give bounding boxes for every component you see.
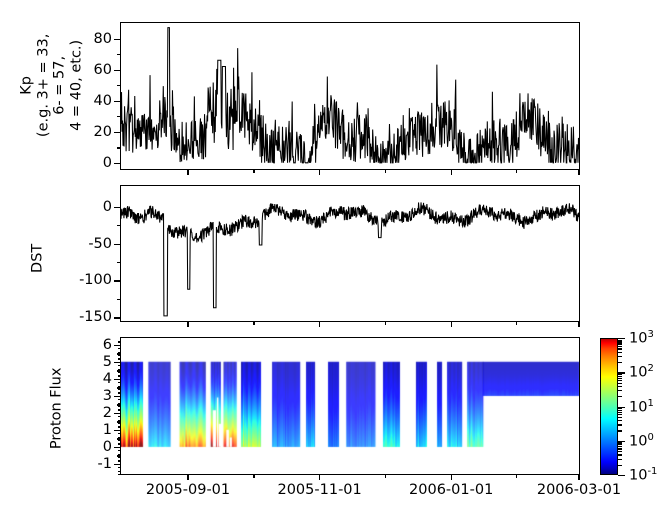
y-tick-label: 1 — [103, 423, 112, 438]
colorbar-tick-major — [618, 475, 625, 476]
y-tick-minor — [118, 365, 121, 366]
kp-axis-title-line4: 4 = 40, etc.) — [69, 25, 86, 145]
dst-trace — [121, 186, 579, 321]
y-tick-major — [114, 396, 121, 397]
colorbar-tick-minor — [618, 352, 622, 353]
colorbar-mantissa: 10 — [629, 468, 647, 484]
colorbar-tick-minor — [618, 424, 622, 425]
colorbar-tick-minor — [618, 412, 622, 413]
y-tick-minor — [118, 372, 121, 373]
y-tick-minor — [118, 406, 121, 407]
kp-trace — [121, 23, 579, 169]
y-tick-minor — [117, 116, 121, 117]
x-tick-major — [319, 474, 320, 480]
x-tick-minor — [253, 169, 254, 173]
x-tick-major — [187, 169, 188, 175]
y-tick-major — [114, 163, 121, 164]
y-tick-minor — [118, 467, 121, 468]
colorbar-tick-label: 100 — [629, 433, 654, 449]
colorbar-tick-minor — [618, 444, 622, 445]
y-tick-minor — [117, 85, 121, 86]
y-tick-label: -50 — [88, 236, 112, 251]
colorbar-tick-minor — [618, 374, 622, 375]
y-tick-label: 40 — [94, 93, 112, 108]
y-tick-minor — [118, 443, 121, 444]
colorbar-tick-label: 101 — [629, 398, 654, 414]
colorbar-exponent: 0 — [647, 432, 653, 443]
y-tick-minor — [118, 437, 121, 438]
y-tick-label: -100 — [79, 273, 112, 288]
y-tick-label: -1 — [98, 457, 112, 472]
kp-axis-title-line2: (e.g. 3+ = 33, — [35, 25, 52, 145]
y-tick-minor — [118, 420, 121, 421]
y-tick-minor — [117, 299, 121, 300]
y-tick-minor — [118, 352, 121, 353]
y-tick-major — [114, 447, 121, 448]
colorbar-mantissa: 10 — [629, 399, 647, 415]
x-tick-major — [319, 321, 320, 327]
x-tick-label: 2006-03-01 — [537, 483, 621, 498]
x-tick-major — [451, 169, 452, 175]
x-tick-major — [319, 169, 320, 175]
y-tick-minor — [118, 416, 121, 417]
colorbar-tick-minor — [618, 378, 622, 379]
y-tick-major — [114, 413, 121, 414]
panel-dst: 0-50-100-150 — [120, 185, 580, 322]
colorbar-tick-minor — [618, 410, 622, 411]
colorbar-tick-minor — [618, 343, 622, 344]
colorbar-tick-label: 102 — [629, 364, 654, 380]
y-tick-minor — [118, 423, 121, 424]
colorbar-tick-minor — [618, 356, 622, 357]
y-tick-major — [114, 70, 121, 71]
y-tick-major — [114, 464, 121, 465]
colorbar-tick-minor — [618, 346, 622, 347]
x-tick-minor — [385, 474, 386, 478]
colorbar-tick-minor — [618, 348, 622, 349]
panel-proton-flux: -10123456 2005-09-012005-11-012006-01-01… — [120, 337, 580, 475]
x-tick-major — [578, 474, 579, 480]
colorbar-tick-minor — [618, 386, 622, 387]
y-tick-label: 4 — [103, 372, 112, 387]
colorbar-tick-minor — [618, 417, 622, 418]
y-tick-label: 3 — [103, 389, 112, 404]
colorbar-tick-minor — [618, 448, 622, 449]
y-tick-major — [114, 39, 121, 40]
colorbar-tick-minor — [618, 446, 622, 447]
y-tick-major — [114, 430, 121, 431]
colorbar-tick-minor — [618, 340, 622, 341]
y-tick-major — [114, 132, 121, 133]
y-tick-minor — [118, 355, 121, 356]
colorbar-tick-minor — [618, 442, 622, 443]
x-tick-label: 2006-01-01 — [409, 483, 493, 498]
y-tick-minor — [118, 433, 121, 434]
y-tick-minor — [118, 375, 121, 376]
y-tick-minor — [118, 392, 121, 393]
colorbar-tick-minor — [618, 465, 622, 466]
flux-axis-title: Proton Flux — [49, 353, 66, 463]
y-tick-minor — [118, 457, 121, 458]
y-tick-minor — [117, 225, 121, 226]
y-tick-minor — [118, 341, 121, 342]
y-tick-minor — [118, 389, 121, 390]
x-tick-major — [187, 474, 188, 480]
y-tick-minor — [118, 450, 121, 451]
colorbar-tick-label: 10-1 — [629, 467, 657, 483]
colorbar-exponent: 3 — [647, 329, 653, 340]
x-tick-major — [578, 169, 579, 175]
y-tick-label: -150 — [79, 310, 112, 325]
x-tick-minor — [253, 474, 254, 478]
y-tick-major — [114, 207, 121, 208]
colorbar-tick-minor — [618, 451, 622, 452]
colorbar-tick-minor — [618, 396, 622, 397]
x-tick-label: 2005-09-01 — [146, 483, 230, 498]
y-tick-major — [114, 280, 121, 281]
y-tick-major — [114, 362, 121, 363]
y-tick-minor — [118, 474, 121, 475]
colorbar-mantissa: 10 — [629, 433, 647, 449]
x-tick-major — [451, 474, 452, 480]
colorbar-tick-minor — [618, 414, 622, 415]
y-tick-minor — [118, 426, 121, 427]
colorbar-tick-minor — [618, 390, 622, 391]
y-tick-label: 2 — [103, 406, 112, 421]
y-tick-minor — [118, 471, 121, 472]
y-tick-minor — [118, 440, 121, 441]
figure-canvas: 020406080 Kp (e.g. 3+ = 33, 6- = 57, 4 =… — [0, 0, 665, 523]
colorbar-tick-label: 103 — [629, 330, 654, 346]
flux-heatmap — [121, 338, 579, 474]
y-tick-major — [114, 244, 121, 245]
x-tick-major — [451, 321, 452, 327]
dst-axis-title: DST — [30, 218, 47, 298]
y-tick-minor — [118, 382, 121, 383]
y-tick-major — [114, 345, 121, 346]
colorbar-tick-minor — [618, 459, 622, 460]
y-tick-major — [114, 379, 121, 380]
x-tick-label: 2005-11-01 — [277, 483, 361, 498]
colorbar: 10310210110010-1 — [600, 338, 618, 475]
colorbar-exponent: 1 — [647, 397, 653, 408]
colorbar-tick-minor — [618, 454, 622, 455]
colorbar-gradient — [600, 338, 618, 475]
y-tick-minor — [118, 409, 121, 410]
x-tick-minor — [385, 321, 386, 325]
x-tick-minor — [253, 321, 254, 325]
x-tick-major — [578, 321, 579, 327]
colorbar-tick-minor — [618, 362, 622, 363]
y-tick-minor — [117, 147, 121, 148]
x-tick-minor — [516, 321, 517, 325]
y-tick-minor — [118, 460, 121, 461]
colorbar-exponent: -1 — [647, 466, 657, 477]
panel-kp: 020406080 — [120, 22, 580, 170]
y-tick-minor — [118, 403, 121, 404]
x-tick-minor — [516, 169, 517, 173]
y-tick-minor — [118, 348, 121, 349]
y-tick-minor — [118, 358, 121, 359]
y-tick-minor — [118, 399, 121, 400]
x-tick-minor — [385, 169, 386, 173]
y-tick-minor — [117, 54, 121, 55]
x-tick-major — [187, 321, 188, 327]
colorbar-mantissa: 10 — [629, 331, 647, 347]
x-tick-minor — [516, 474, 517, 478]
y-tick-major — [114, 317, 121, 318]
y-tick-label: 80 — [94, 31, 112, 46]
colorbar-exponent: 2 — [647, 363, 653, 374]
colorbar-tick-minor — [618, 408, 622, 409]
y-tick-label: 0 — [103, 156, 112, 171]
colorbar-tick-minor — [618, 383, 622, 384]
colorbar-tick-minor — [618, 430, 622, 431]
kp-axis-title-line1: Kp — [19, 25, 36, 145]
y-tick-label: 5 — [103, 355, 112, 370]
colorbar-tick-minor — [618, 341, 622, 342]
y-tick-minor — [118, 386, 121, 387]
colorbar-mantissa: 10 — [629, 365, 647, 381]
colorbar-tick-minor — [618, 420, 622, 421]
y-tick-label: 6 — [103, 338, 112, 353]
dst-plot-area — [121, 186, 579, 321]
y-tick-minor — [118, 369, 121, 370]
colorbar-tick-minor — [618, 380, 622, 381]
y-tick-label: 0 — [103, 440, 112, 455]
y-tick-minor — [117, 262, 121, 263]
y-tick-label: 60 — [94, 62, 112, 77]
flux-plot-area — [121, 338, 579, 474]
kp-plot-area — [121, 23, 579, 169]
colorbar-tick-minor — [618, 376, 622, 377]
y-tick-minor — [118, 454, 121, 455]
y-tick-major — [114, 101, 121, 102]
y-tick-label: 0 — [103, 199, 112, 214]
kp-axis-title: Kp (e.g. 3+ = 33, 6- = 57, 4 = 40, etc.) — [19, 25, 86, 145]
kp-axis-title-line3: 6- = 57, — [52, 25, 69, 145]
y-tick-label: 20 — [94, 124, 112, 139]
